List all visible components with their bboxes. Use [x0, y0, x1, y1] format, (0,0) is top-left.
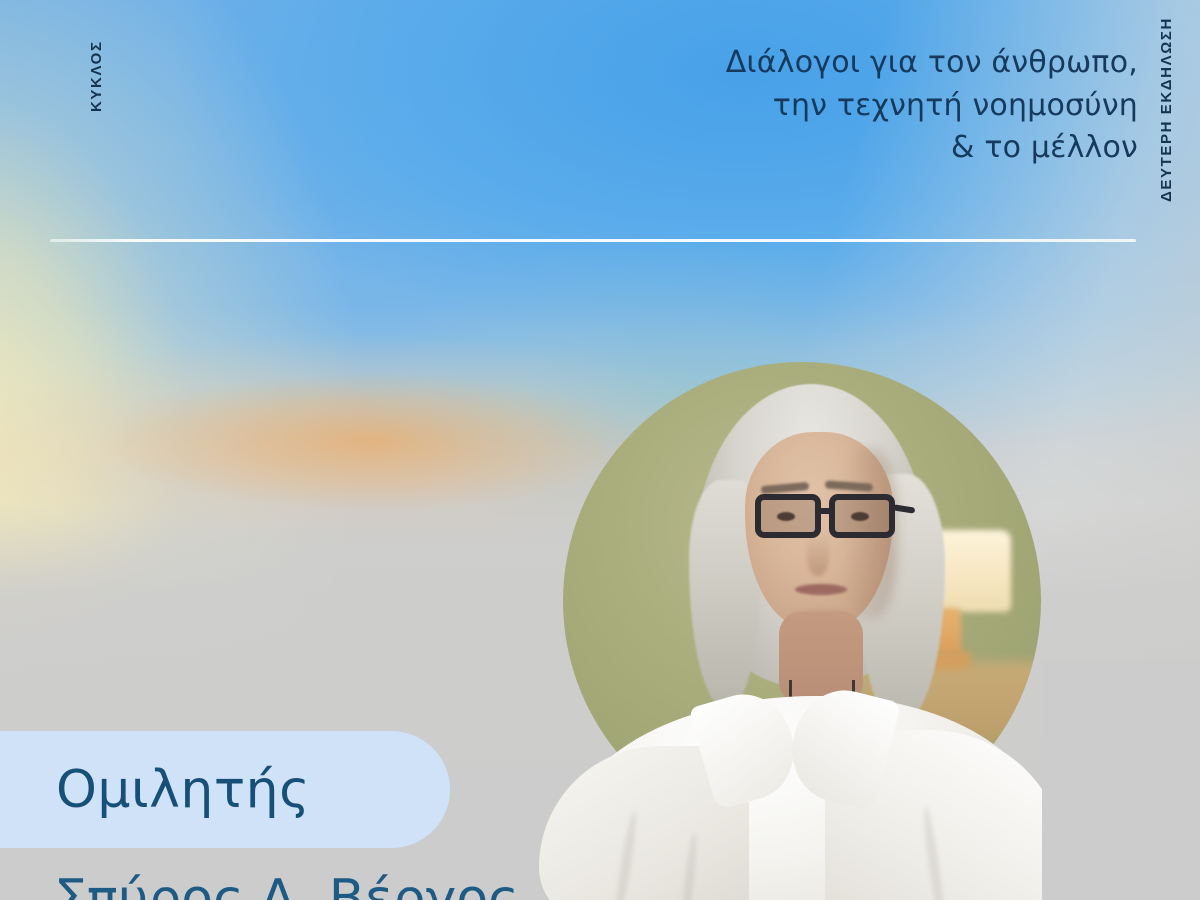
speaker-badge: Ομιλητής [0, 731, 450, 848]
series-label-vertical: ΚΥΚΛΟΣ [88, 40, 105, 112]
speaker-portrait [563, 362, 1041, 840]
nose [807, 534, 829, 576]
glasses-bridge [819, 508, 833, 514]
headline: Διάλογοι για τον άνθρωπο, την τεχνητή νο… [578, 42, 1138, 170]
glasses-lens-left [755, 494, 821, 538]
speaker-badge-label: Ομιλητής [56, 764, 310, 816]
necklace-cord [789, 680, 855, 710]
portrait-circle-mask [563, 362, 1041, 840]
headline-line-1: Διάλογοι για τον άνθρωπο, [578, 42, 1138, 85]
shirt-right-mask [1042, 660, 1200, 900]
glasses-lens-right [829, 494, 895, 538]
speaker-name: Σπύρος Δ. Βέργος [54, 873, 519, 900]
edition-label-vertical: ΔΕΥΤΕΡΗ ΕΚΔΗΛΩΣΗ [1158, 17, 1175, 202]
event-poster: ΚΥΚΛΟΣ ΔΕΥΤΕΡΗ ΕΚΔΗΛΩΣΗ Διάλογοι για τον… [0, 0, 1200, 900]
mouth [795, 584, 847, 595]
headline-line-3: & το μέλλον [578, 127, 1138, 170]
horizontal-divider [50, 239, 1136, 242]
headline-line-2: την τεχνητή νοημοσύνη [578, 85, 1138, 128]
